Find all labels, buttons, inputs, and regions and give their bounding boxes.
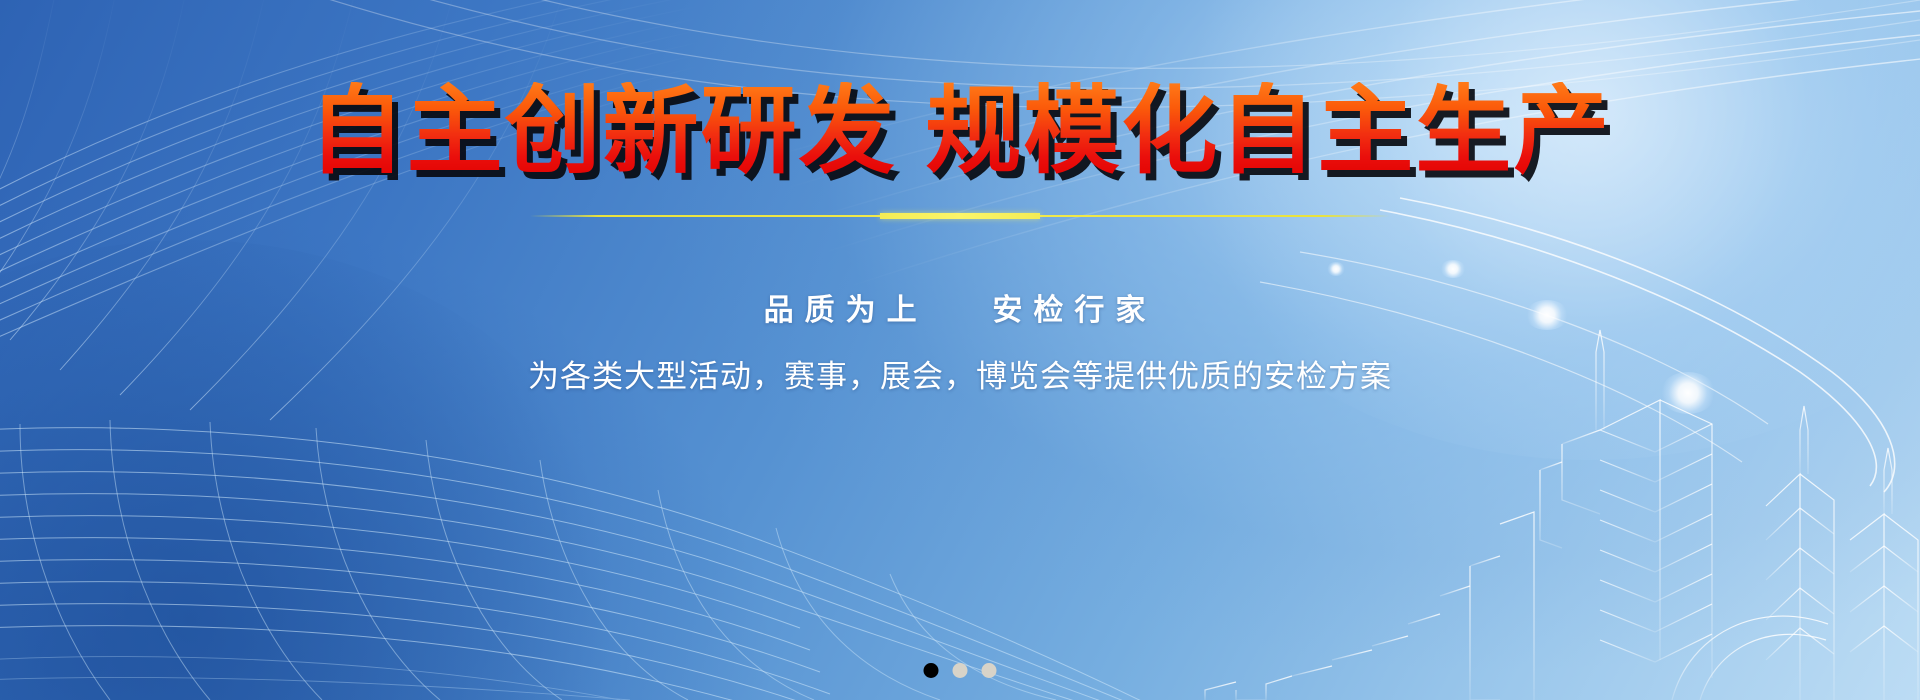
bottom-left-glow — [0, 240, 640, 700]
glow-spark-2 — [1440, 260, 1466, 278]
carousel-indicators[interactable] — [924, 663, 997, 678]
subtitle-primary-right: 安检行家 — [992, 294, 1156, 327]
subtitle-description: 为各类大型活动，赛事，展会，博览会等提供优质的安检方案 — [528, 351, 1392, 396]
divider-bold-segment — [880, 213, 1040, 219]
banner-content: 自主创新研发 规模化自主生产 品质为上 安检行家 为各类大型活动，赛事，展会，博… — [0, 0, 1920, 700]
glow-spark-4 — [1327, 262, 1345, 276]
glow-spark-3 — [1660, 372, 1716, 414]
subtitle-primary: 品质为上 安检行家 — [764, 285, 1157, 329]
divider-thin-line — [530, 215, 1390, 217]
hero-banner: 自主创新研发 规模化自主生产 品质为上 安检行家 为各类大型活动，赛事，展会，博… — [0, 0, 1920, 700]
carousel-dot-2[interactable] — [953, 663, 968, 678]
page-title: 自主创新研发 规模化自主生产 — [309, 82, 1612, 183]
subtitle-primary-left: 品质为上 — [764, 294, 928, 327]
glow-spark-1 — [1525, 300, 1569, 330]
carousel-dot-1[interactable] — [924, 663, 939, 678]
yellow-divider — [530, 213, 1390, 219]
carousel-dot-3[interactable] — [982, 663, 997, 678]
